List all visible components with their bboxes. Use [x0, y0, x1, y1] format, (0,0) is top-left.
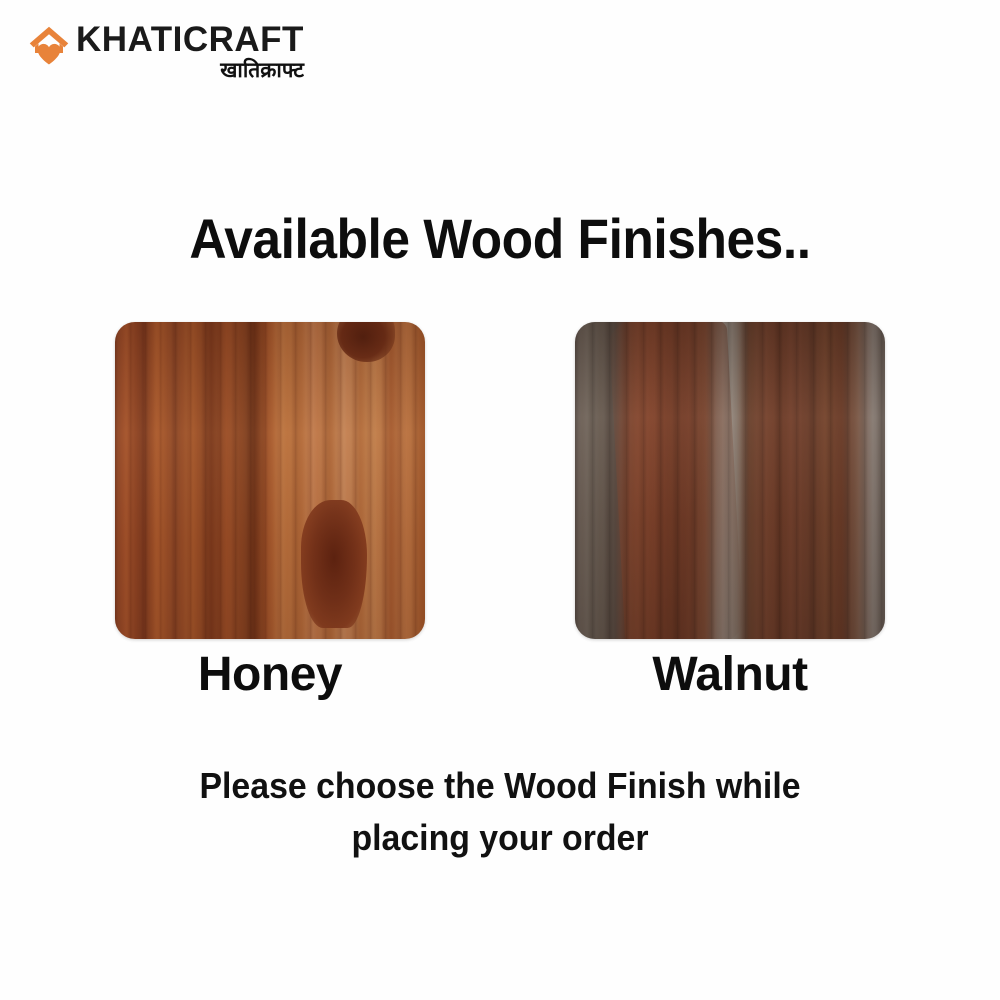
- wood-finish-options: Honey Walnut: [0, 322, 1000, 702]
- honey-wood-swatch[interactable]: [115, 322, 425, 639]
- brand-wordmark: KHATICRAFT खातिक्राफ्ट: [76, 22, 304, 82]
- house-heart-icon: [28, 24, 70, 68]
- walnut-shading-overlay: [575, 322, 885, 639]
- brand-subtitle-devanagari: खातिक्राफ्ट: [220, 59, 304, 82]
- honey-shading-overlay: [115, 322, 425, 639]
- finish-label-honey: Honey: [198, 649, 342, 702]
- finish-label-walnut: Walnut: [652, 649, 807, 702]
- walnut-wood-swatch[interactable]: [575, 322, 885, 639]
- instruction-line-1: Please choose the Wood Finish while: [30, 760, 970, 812]
- brand-logo[interactable]: KHATICRAFT खातिक्राफ्ट: [28, 22, 304, 82]
- finish-option-walnut[interactable]: Walnut: [575, 322, 885, 702]
- instruction-note: Please choose the Wood Finish while plac…: [30, 760, 970, 864]
- finish-option-honey[interactable]: Honey: [115, 322, 425, 702]
- instruction-line-2: placing your order: [30, 812, 970, 864]
- page-title: Available Wood Finishes..: [40, 206, 960, 271]
- brand-name: KHATICRAFT: [76, 22, 304, 57]
